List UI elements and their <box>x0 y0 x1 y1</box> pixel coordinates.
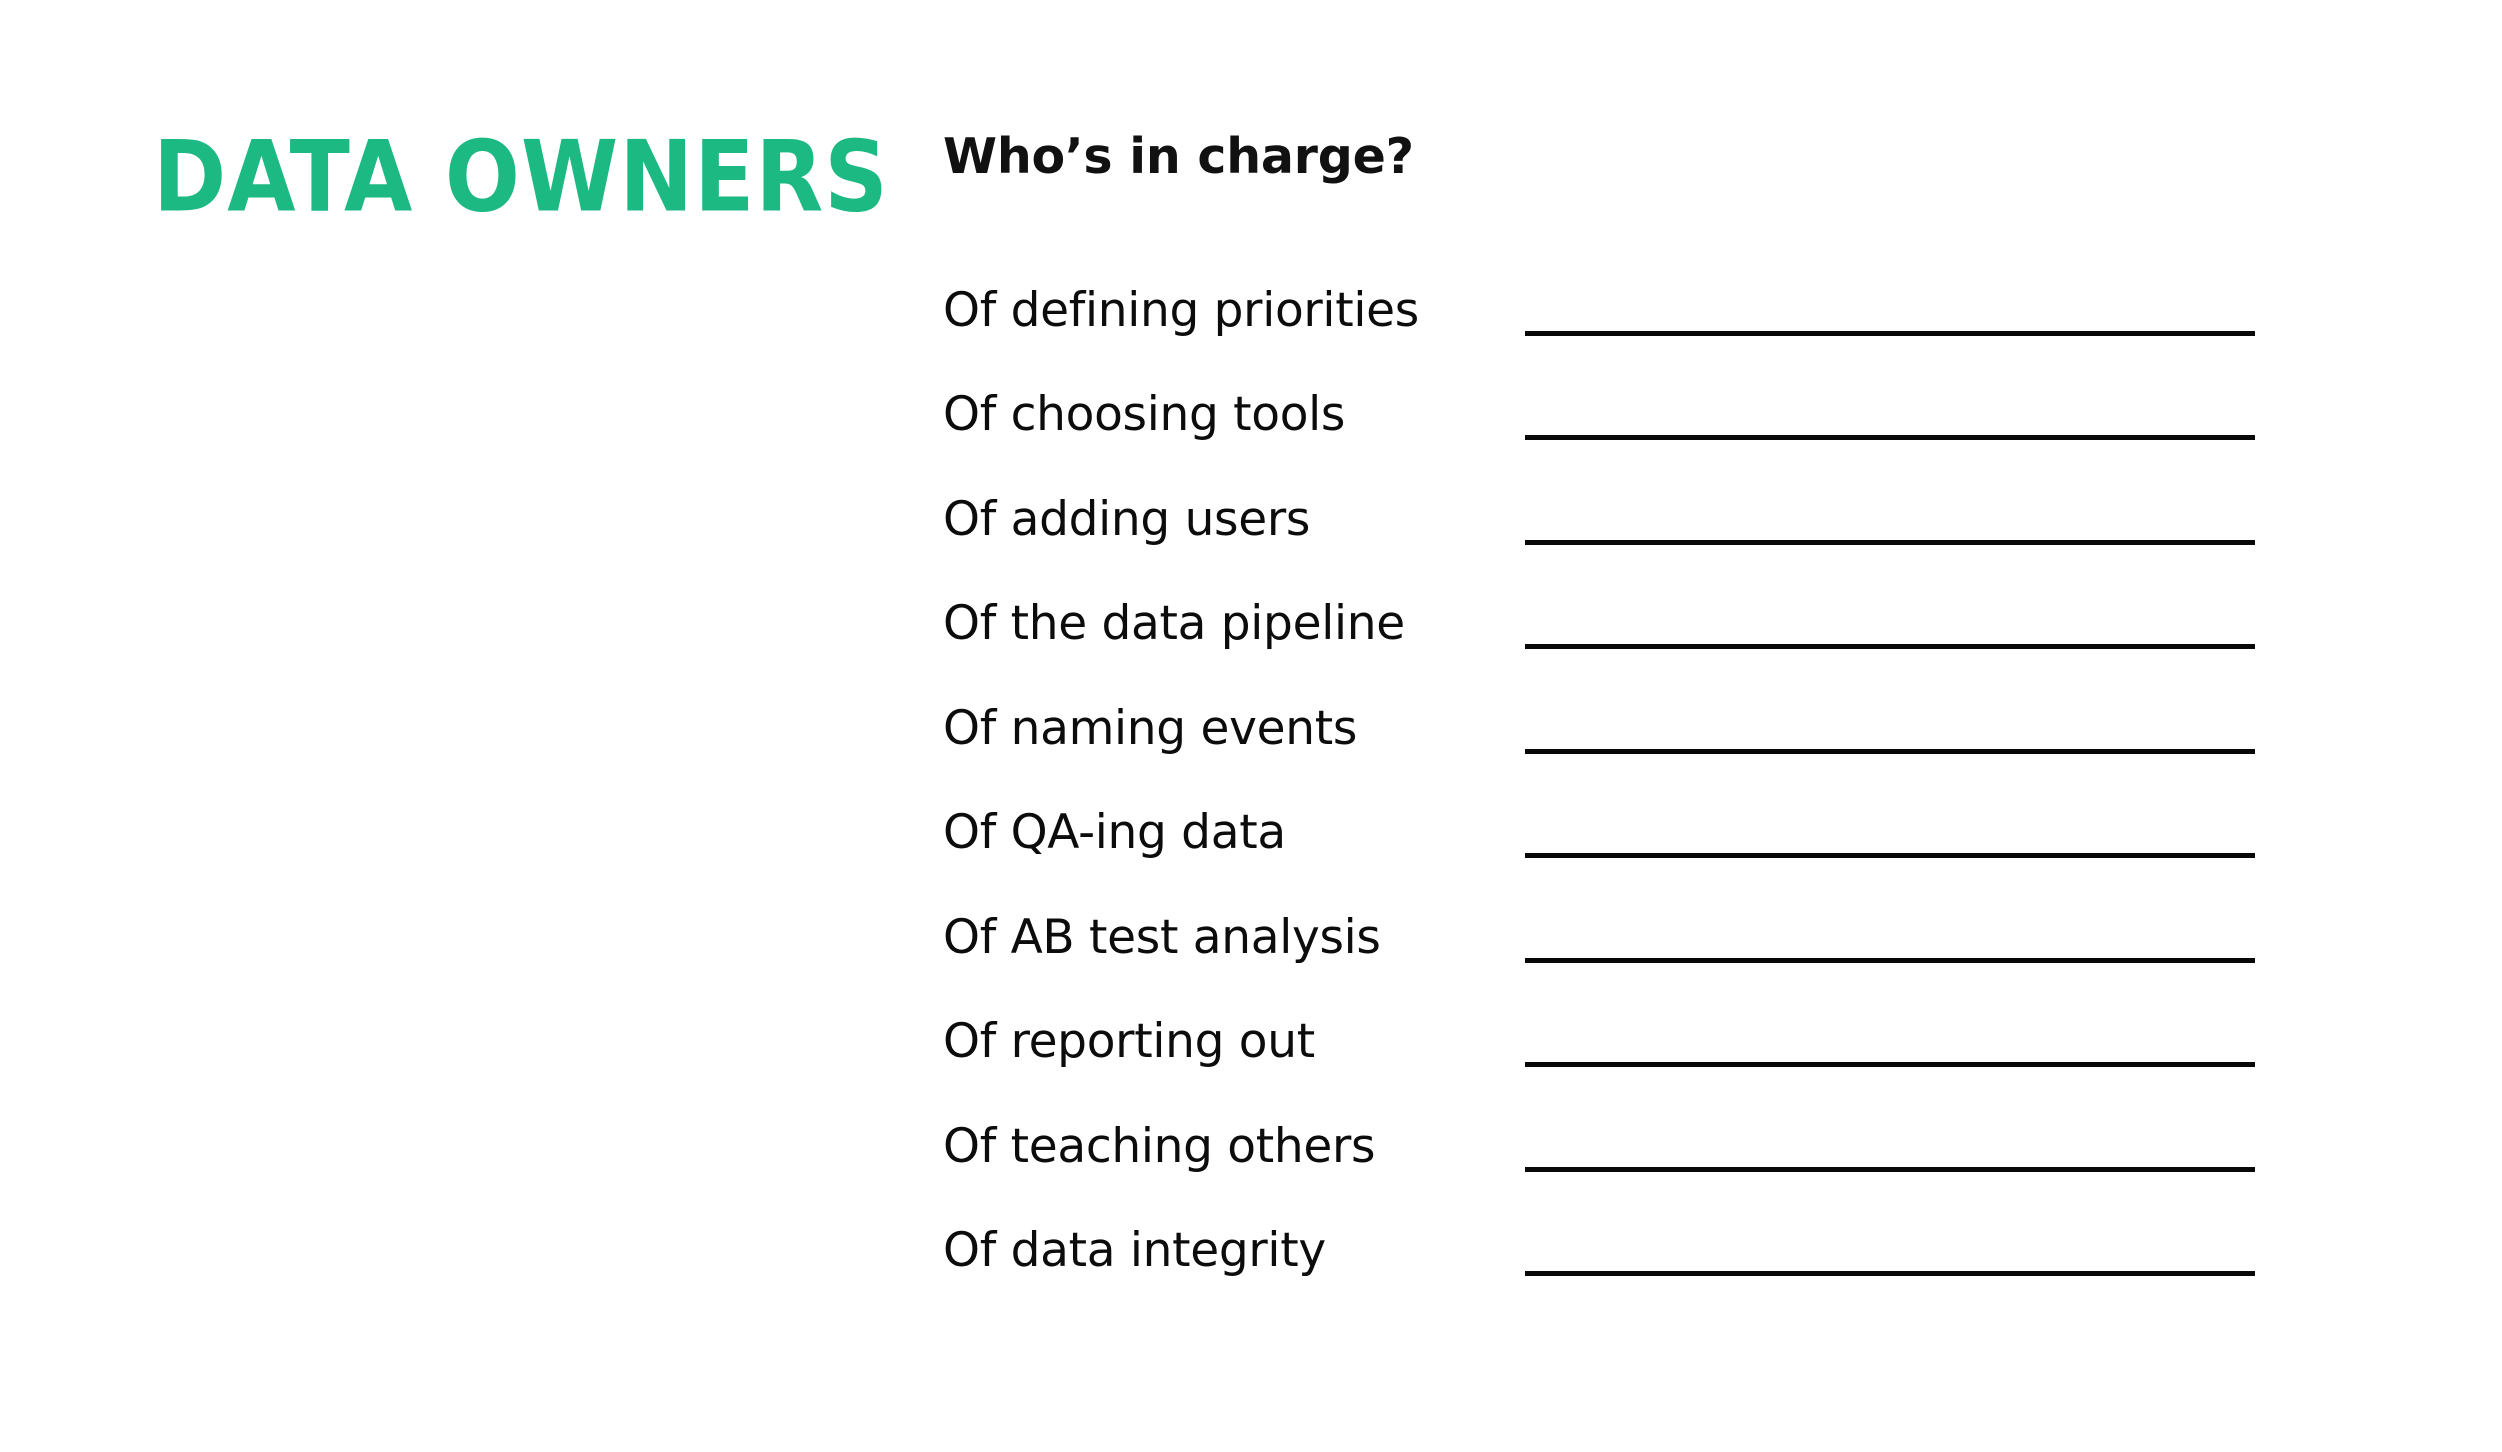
list-item: Of data integrity <box>943 1175 2343 1280</box>
checklist-heading: Who’s in charge? <box>943 128 2343 186</box>
list-item: Of defining priorities <box>943 234 2343 339</box>
list-item: Of QA-ing data <box>943 757 2343 862</box>
answer-write-in-line[interactable] <box>1525 540 2255 545</box>
list-item-label: Of QA-ing data <box>943 809 1503 857</box>
answer-write-in-line[interactable] <box>1525 1271 2255 1276</box>
list-item: Of the data pipeline <box>943 548 2343 653</box>
answer-write-in-line[interactable] <box>1525 1167 2255 1172</box>
answer-write-in-line[interactable] <box>1525 644 2255 649</box>
list-item-label: Of adding users <box>943 496 1503 544</box>
list-item-label: Of the data pipeline <box>943 600 1503 648</box>
answer-write-in-line[interactable] <box>1525 435 2255 440</box>
list-item: Of AB test analysis <box>943 861 2343 966</box>
answer-write-in-line[interactable] <box>1525 958 2255 963</box>
list-item: Of naming events <box>943 652 2343 757</box>
list-item-label: Of AB test analysis <box>943 914 1503 962</box>
checklist-rows: Of defining priorities Of choosing tools… <box>943 234 2343 1279</box>
list-item-label: Of defining priorities <box>943 287 1503 335</box>
list-item: Of reporting out <box>943 966 2343 1071</box>
list-item: Of teaching others <box>943 1070 2343 1175</box>
list-item-label: Of reporting out <box>943 1018 1503 1066</box>
worksheet-page: DATA OWNERS Who’s in charge? Of defining… <box>0 0 2502 1452</box>
answer-write-in-line[interactable] <box>1525 1062 2255 1067</box>
answer-write-in-line[interactable] <box>1525 853 2255 858</box>
title-block: DATA OWNERS <box>153 128 853 224</box>
list-item-label: Of teaching others <box>943 1123 1503 1171</box>
checklist-block: Who’s in charge? Of defining priorities … <box>943 128 2343 186</box>
page-title: DATA OWNERS <box>153 128 797 226</box>
answer-write-in-line[interactable] <box>1525 749 2255 754</box>
list-item-label: Of choosing tools <box>943 391 1503 439</box>
list-item-label: Of data integrity <box>943 1227 1503 1275</box>
list-item: Of choosing tools <box>943 339 2343 444</box>
list-item-label: Of naming events <box>943 705 1503 753</box>
answer-write-in-line[interactable] <box>1525 331 2255 336</box>
list-item: Of adding users <box>943 443 2343 548</box>
